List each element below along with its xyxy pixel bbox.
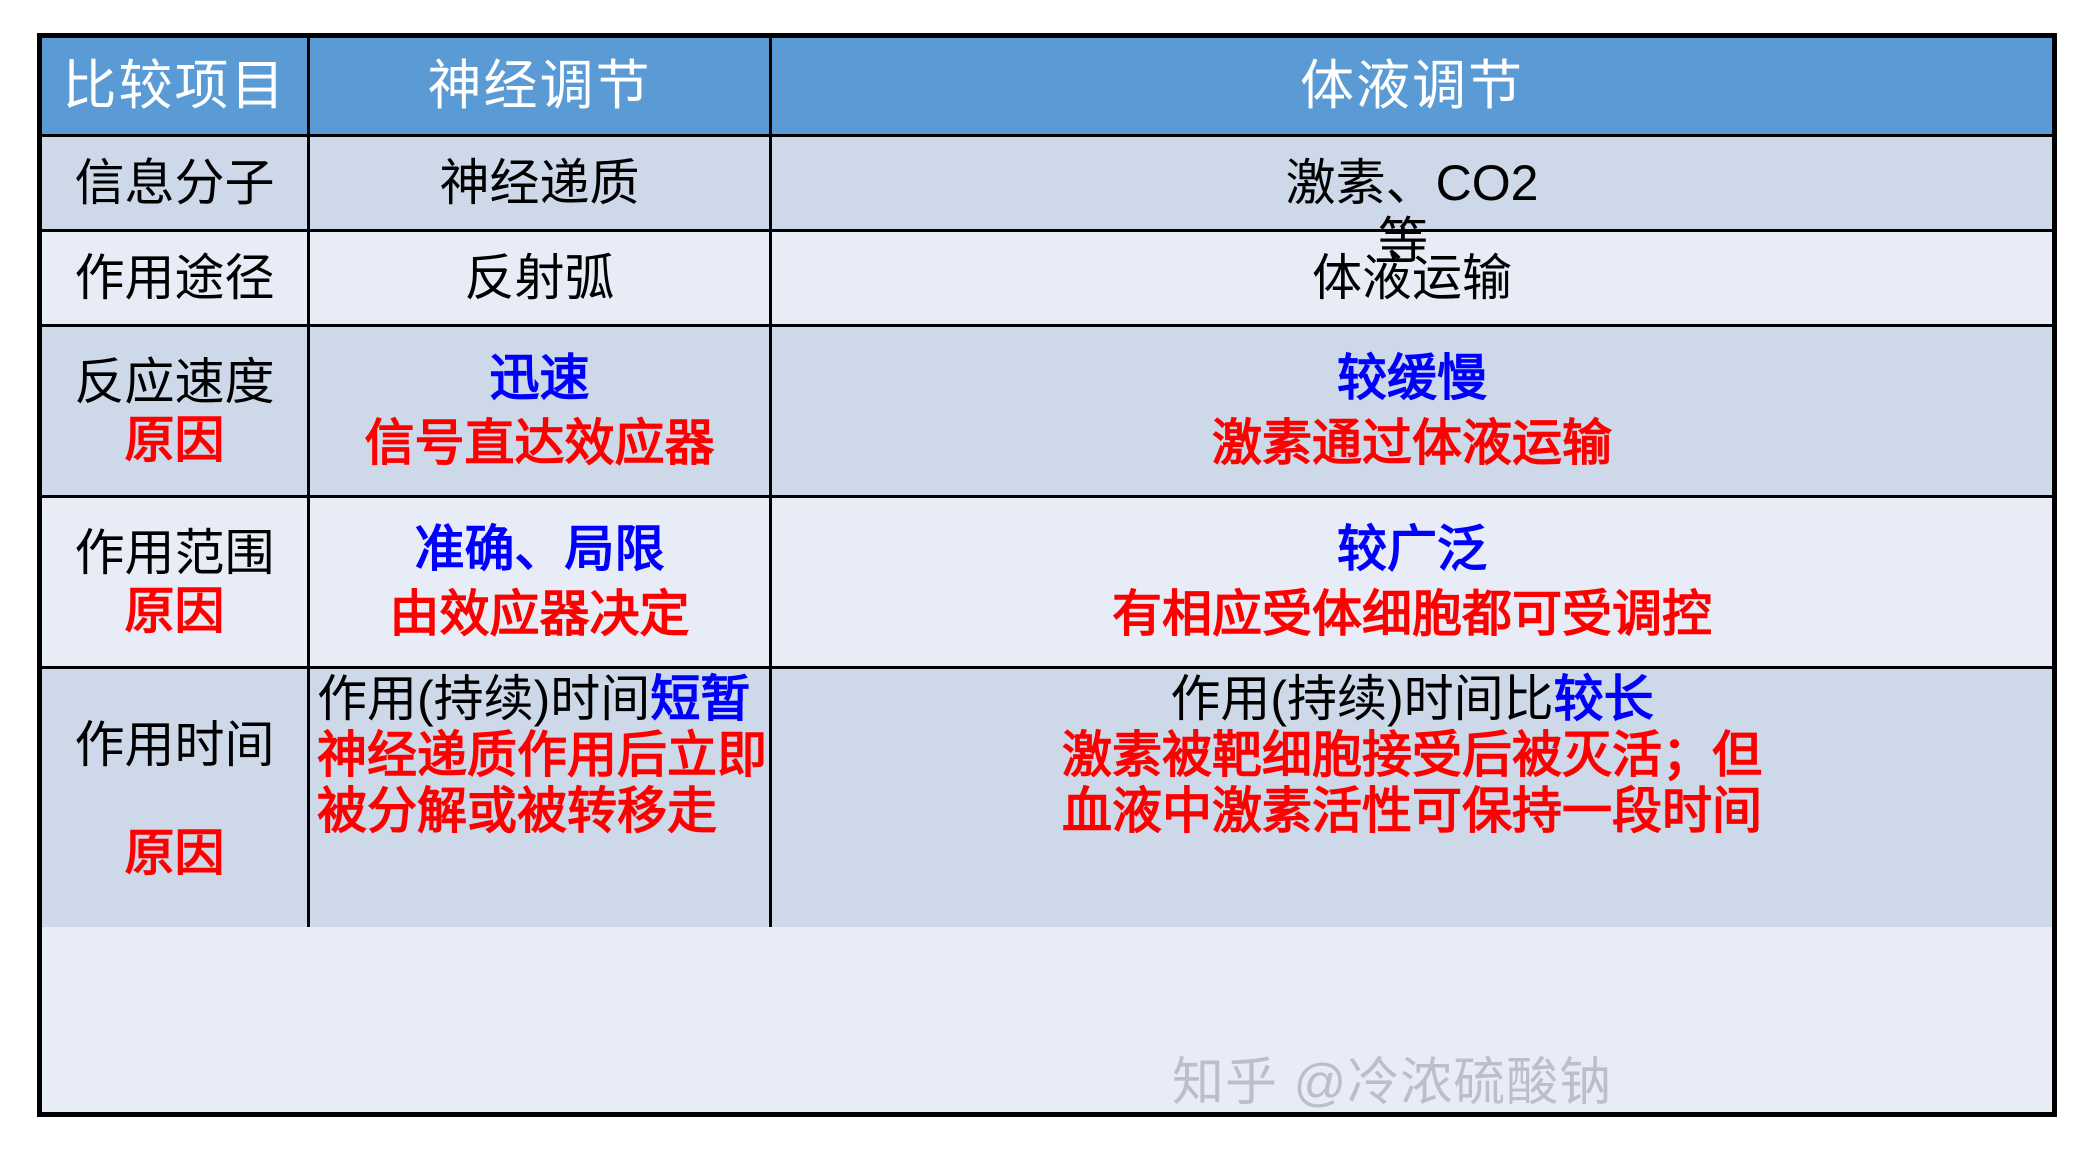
- comparison-table: 比较项目 神经调节 体液调节 信息分子 神经递质 激素、CO2 作用途径: [37, 33, 2057, 1117]
- row-humoral-cell: 作用(持续)时间比较长 激素被靶细胞接受后被灭活；但 血液中激素活性可保持一段时…: [772, 669, 2052, 927]
- row-humoral-cell: 较缓慢 激素通过体液运输: [772, 327, 2052, 495]
- header-cell-compare-item: 比较项目: [42, 38, 310, 134]
- row-humoral-line-1-blue: 较长: [1554, 671, 1654, 727]
- row-neural-cell: 作用(持续)时间短暂 神经递质作用后立即 被分解或被转移走: [310, 669, 772, 927]
- row-label-reason: 原因: [125, 827, 225, 880]
- slide-canvas: 比较项目 神经调节 体液调节 信息分子 神经递质 激素、CO2 作用途径: [0, 0, 2095, 1173]
- row-label: 信息分子: [75, 157, 275, 210]
- row-humoral-cell: 较广泛 有相应受体细胞都可受调控: [772, 498, 2052, 666]
- row-neural-line-1: 作用(持续)时间短暂: [315, 671, 764, 727]
- header-label-compare-item: 比较项目: [63, 59, 287, 113]
- row-label-cell: 作用途径: [42, 232, 310, 324]
- table-row: 作用时间 原因 作用(持续)时间短暂 神经递质作用后立即 被分解或被转移走 作用…: [42, 669, 2052, 927]
- row-humoral-main: 体液运输: [1312, 251, 1512, 306]
- table-row: 作用范围 原因 准确、局限 由效应器决定 较广泛 有相应受体细胞都可受调控: [42, 498, 2052, 669]
- row-neural-reason: 信号直达效应器: [365, 416, 715, 471]
- header-label-neural-regulation: 神经调节: [428, 59, 652, 113]
- row-label-cell: 作用时间 原因: [42, 669, 310, 927]
- row-humoral-main: 较缓慢: [1337, 351, 1487, 406]
- row-neural-line-1-black: 作用(持续)时间: [317, 671, 650, 727]
- header-label-humoral-regulation: 体液调节: [1300, 59, 1524, 113]
- row-label: 作用途径: [75, 252, 275, 305]
- row-humoral-cell: 等 体液运输: [772, 232, 2052, 324]
- row-label: 作用时间: [75, 719, 275, 772]
- row-label-reason: 原因: [125, 414, 225, 467]
- header-cell-humoral-regulation: 体液调节: [772, 38, 2052, 134]
- row-neural-line-3: 被分解或被转移走: [315, 783, 764, 839]
- table-row: 信息分子 神经递质 激素、CO2: [42, 137, 2052, 232]
- row-neural-cell: 迅速 信号直达效应器: [310, 327, 772, 495]
- row-neural-main: 迅速: [490, 351, 590, 406]
- row-humoral-reason: 激素通过体液运输: [1212, 416, 1612, 471]
- row-humoral-line-1-black: 作用(持续)时间比: [1170, 671, 1553, 727]
- row-humoral-cell: 激素、CO2: [772, 137, 2052, 229]
- row-label: 作用范围: [75, 527, 275, 580]
- row-label-cell: 作用范围 原因: [42, 498, 310, 666]
- row-label-reason: 原因: [125, 585, 225, 638]
- row-humoral-line-3: 血液中激素活性可保持一段时间: [778, 783, 2046, 839]
- row-humoral-reason: 有相应受体细胞都可受调控: [1112, 587, 1712, 642]
- table-header-row: 比较项目 神经调节 体液调节: [42, 38, 2052, 137]
- row-neural-main: 准确、局限: [415, 522, 665, 577]
- table-row: 反应速度 原因 迅速 信号直达效应器 较缓慢 激素通过体液运输: [42, 327, 2052, 498]
- row-neural-line-2: 神经递质作用后立即: [315, 727, 764, 783]
- row-humoral-line-1: 作用(持续)时间比较长: [778, 671, 2046, 727]
- row-humoral-line-2: 激素被靶细胞接受后被灭活；但: [778, 727, 2046, 783]
- row-humoral-main: 激素、CO2: [1286, 156, 1539, 211]
- row-label-cell: 反应速度 原因: [42, 327, 310, 495]
- table-row: 作用途径 反射弧 等 体液运输: [42, 232, 2052, 327]
- row-neural-cell: 准确、局限 由效应器决定: [310, 498, 772, 666]
- row-neural-reason: 由效应器决定: [390, 587, 690, 642]
- row-neural-cell: 神经递质: [310, 137, 772, 229]
- header-cell-neural-regulation: 神经调节: [310, 38, 772, 134]
- row-neural-main: 神经递质: [440, 156, 640, 211]
- row-neural-main: 反射弧: [465, 251, 615, 306]
- row-neural-cell: 反射弧: [310, 232, 772, 324]
- row-label: 反应速度: [75, 356, 275, 409]
- row-label-cell: 信息分子: [42, 137, 310, 229]
- row-neural-line-1-blue: 短暂: [650, 671, 750, 727]
- row-humoral-main: 较广泛: [1337, 522, 1487, 577]
